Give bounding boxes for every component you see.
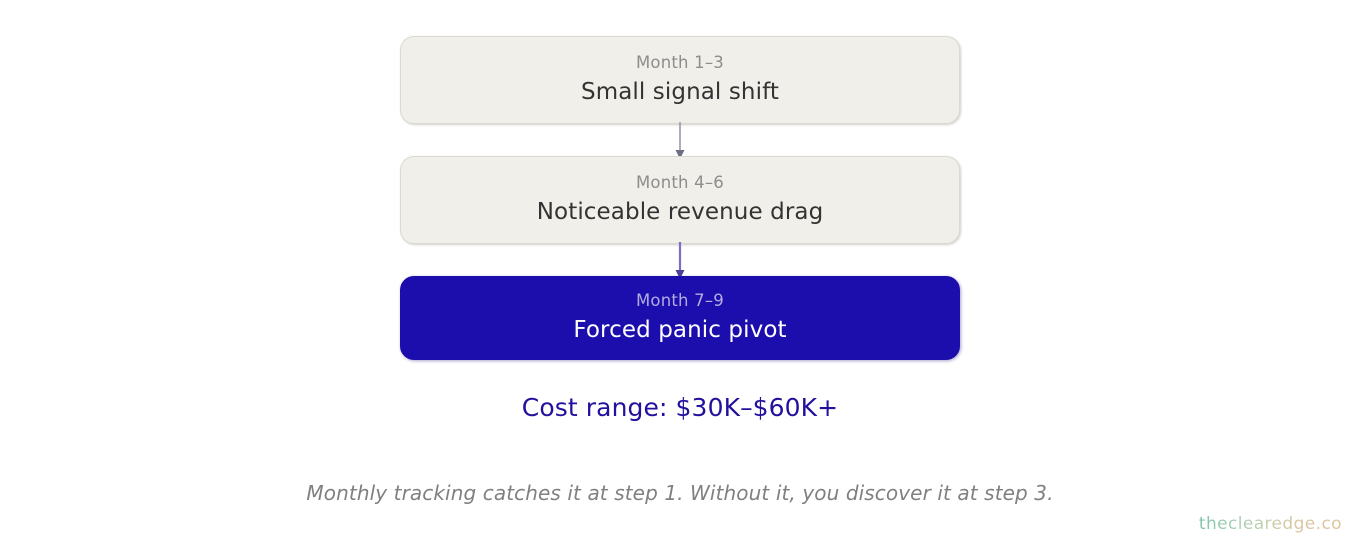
footnote-text: Monthly tracking catches it at step 1. W…: [0, 481, 1360, 505]
step-period-label: Month 1–3: [636, 53, 724, 73]
step-title-label: Noticeable revenue drag: [537, 198, 824, 227]
step-period-label: Month 4–6: [636, 173, 724, 193]
step-card-1[interactable]: Month 1–3 Small signal shift: [400, 36, 960, 124]
cost-range-label: Cost range: $30K–$60K+: [0, 393, 1360, 422]
step-card-2[interactable]: Month 4–6 Noticeable revenue drag: [400, 156, 960, 244]
step-title-label: Forced panic pivot: [573, 316, 786, 345]
diagram-canvas: Month 1–3 Small signal shift Month 4–6 N…: [0, 0, 1360, 540]
step-card-3[interactable]: Month 7–9 Forced panic pivot: [400, 276, 960, 360]
step-title-label: Small signal shift: [581, 78, 779, 107]
step-period-label: Month 7–9: [636, 291, 724, 311]
watermark-brand: theclearedge.co: [1199, 514, 1342, 534]
